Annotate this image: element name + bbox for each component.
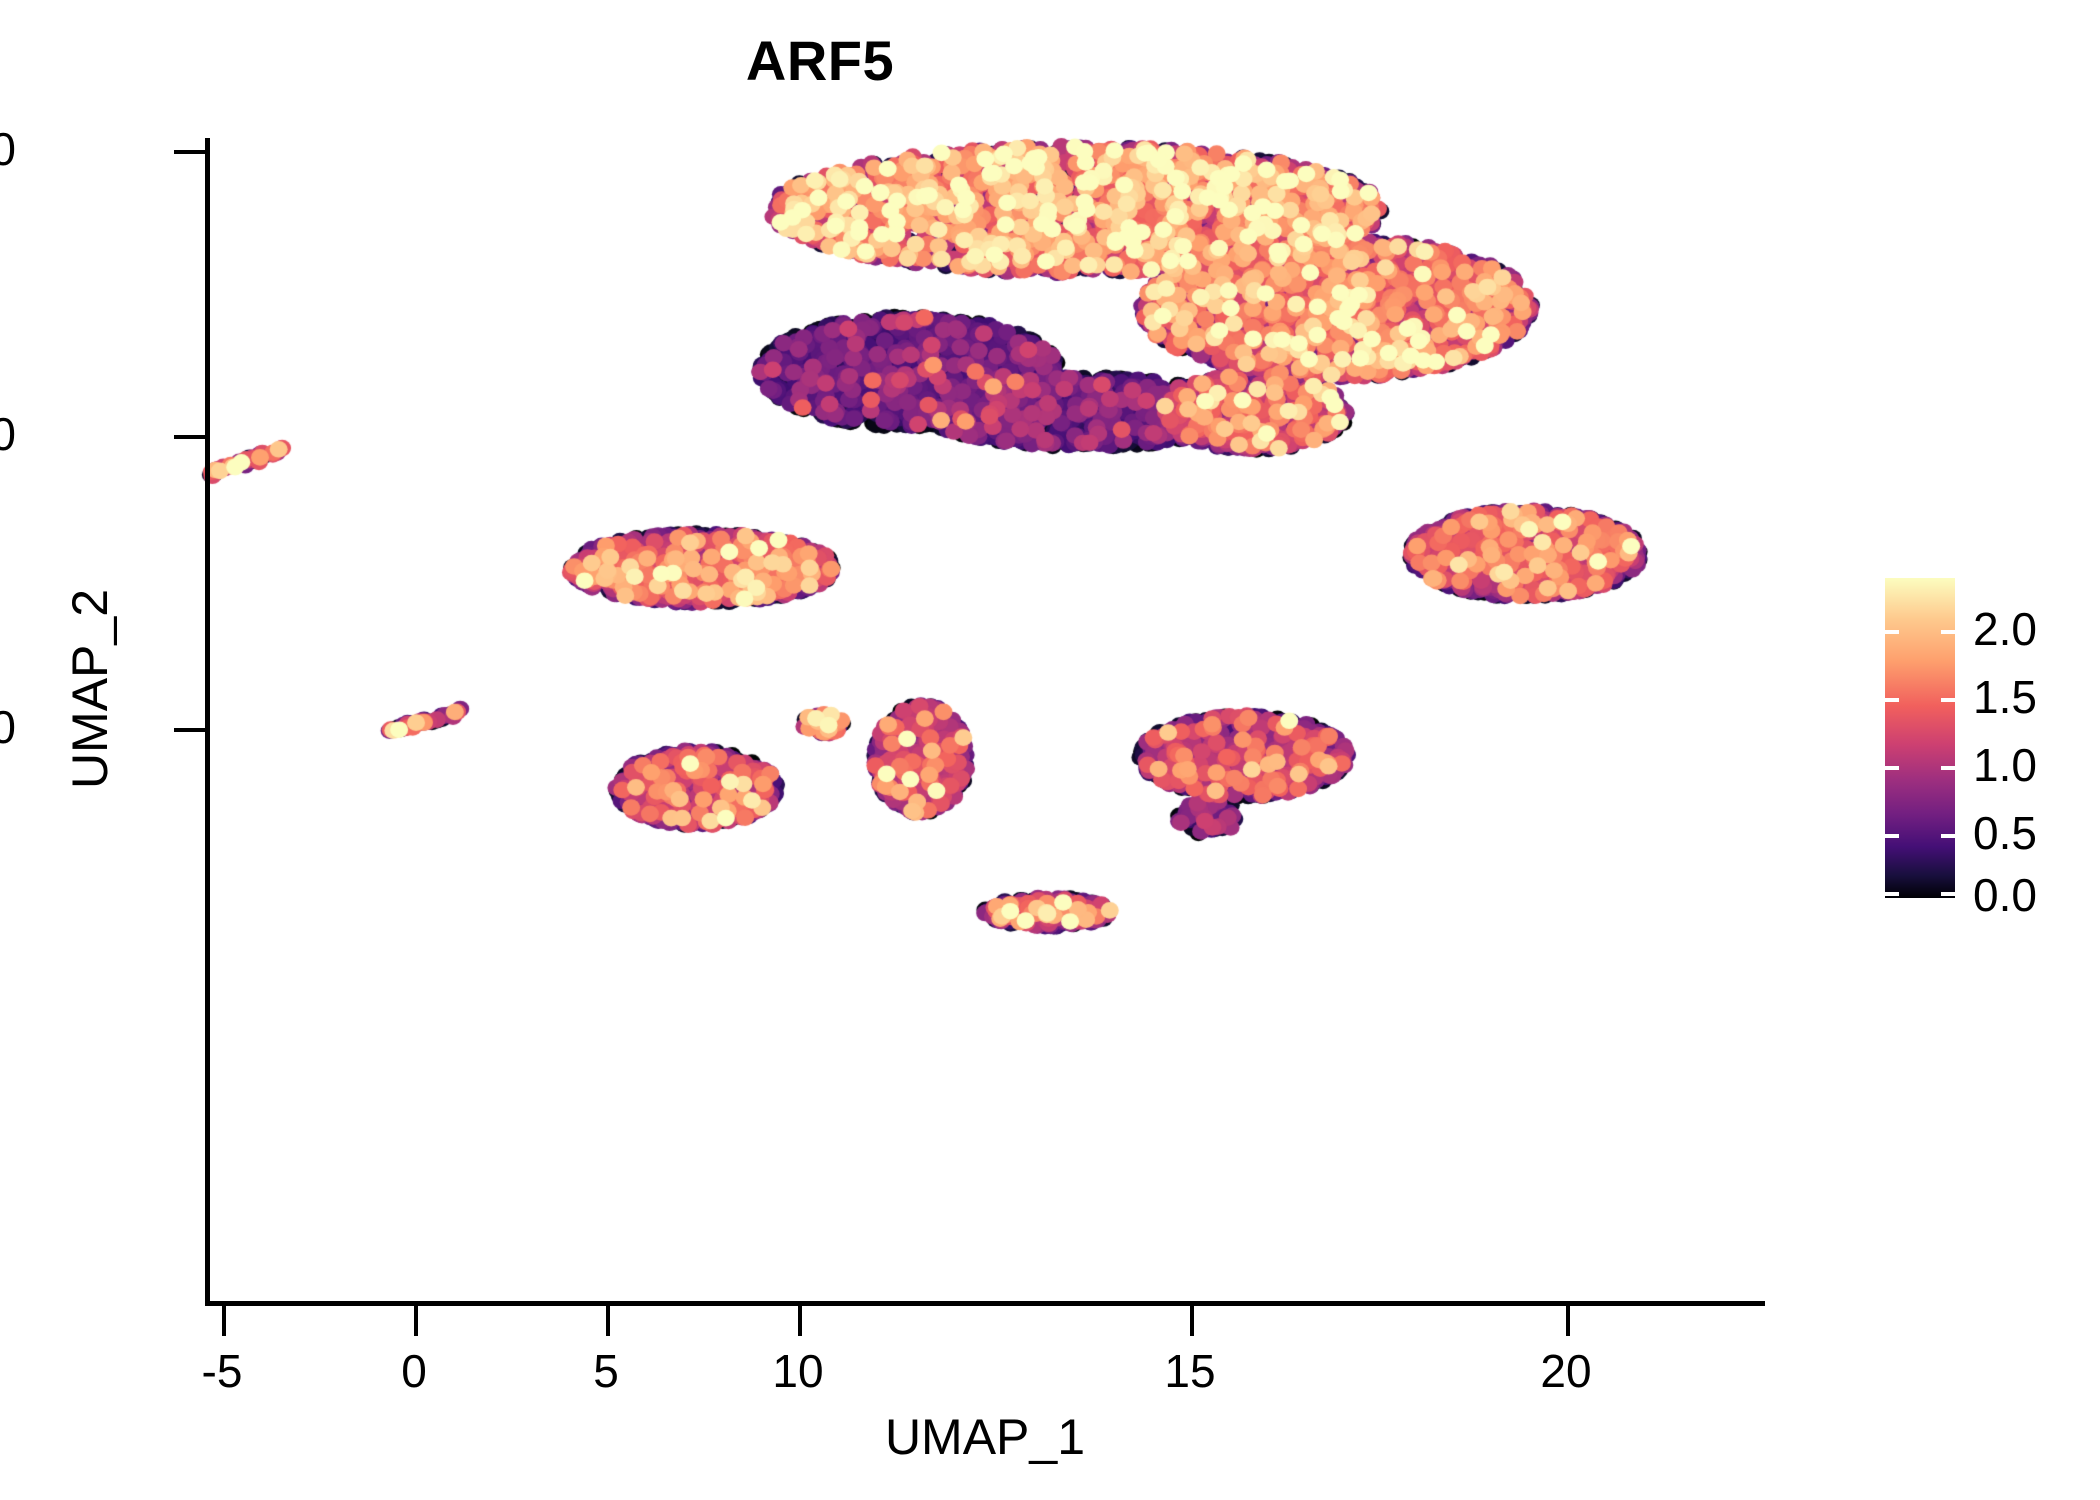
x-ticklabel-20: 20	[1501, 1344, 1631, 1398]
umap-feature-plot: ARF5 20 10 0 -5 0 5 10 15 20 UMAP_1 UMAP…	[0, 0, 2100, 1500]
colorbar-tick-0.0-left	[1885, 892, 1899, 896]
y-tick-20	[174, 150, 205, 154]
x-tick-15	[1190, 1306, 1194, 1336]
colorbar-tick-1.0-right	[1941, 766, 1955, 770]
x-axis-line	[205, 1301, 1765, 1306]
x-ticklabel-10: 10	[733, 1344, 863, 1398]
y-tick-10	[174, 435, 205, 439]
x-ticklabel-15: 15	[1125, 1344, 1255, 1398]
x-tick-0	[414, 1306, 418, 1336]
y-ticklabel-20: 20	[0, 122, 16, 176]
x-ticklabel--5: -5	[157, 1344, 287, 1398]
colorbar-tick-0.0-right	[1941, 892, 1955, 896]
x-axis-label: UMAP_1	[205, 1408, 1765, 1466]
colorbar-gradient	[1885, 578, 1955, 898]
y-axis-line	[205, 138, 210, 1306]
colorbar-tick-2.0-right	[1941, 630, 1955, 634]
x-ticklabel-0: 0	[349, 1344, 479, 1398]
colorbar-tick-2.0-left	[1885, 630, 1899, 634]
colorbar-legend: 2.0 1.5 1.0 0.5 0.0	[1885, 578, 1955, 898]
scatter-plot-canvas	[0, 0, 2100, 1500]
x-tick-20	[1566, 1306, 1570, 1336]
colorbar-label-1.0: 1.0	[1973, 738, 2037, 792]
x-tick-10	[798, 1306, 802, 1336]
colorbar-label-1.5: 1.5	[1973, 670, 2037, 724]
colorbar-tick-1.0-left	[1885, 766, 1899, 770]
y-tick-0	[174, 728, 205, 732]
x-tick-5	[606, 1306, 610, 1336]
colorbar-tick-0.5-left	[1885, 834, 1899, 838]
colorbar-label-2.0: 2.0	[1973, 602, 2037, 656]
y-axis-label: UMAP_2	[61, 339, 119, 1039]
y-ticklabel-0: 0	[0, 700, 16, 754]
colorbar-tick-1.5-left	[1885, 698, 1899, 702]
x-tick--5	[222, 1306, 226, 1336]
y-ticklabel-10: 10	[0, 407, 16, 461]
x-ticklabel-5: 5	[541, 1344, 671, 1398]
colorbar-tick-0.5-right	[1941, 834, 1955, 838]
colorbar-tick-1.5-right	[1941, 698, 1955, 702]
colorbar-label-0.0: 0.0	[1973, 868, 2037, 922]
colorbar-label-0.5: 0.5	[1973, 806, 2037, 860]
